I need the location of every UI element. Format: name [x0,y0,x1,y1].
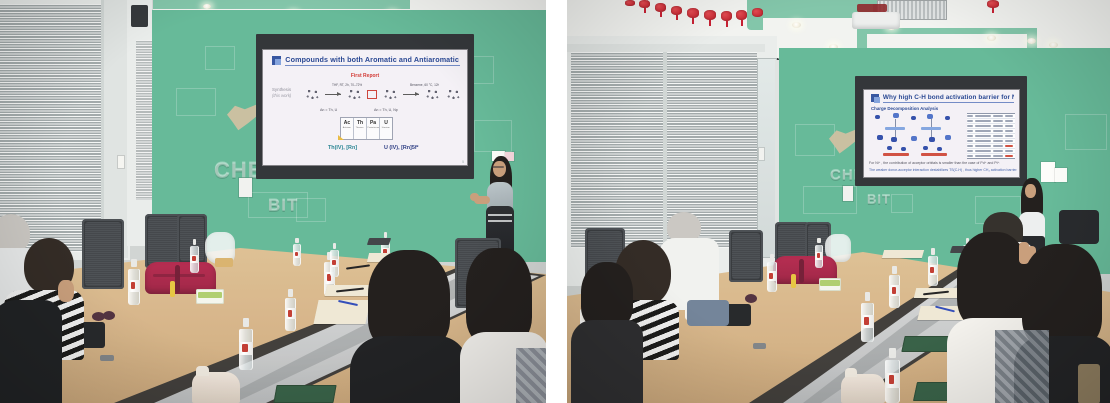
wall-control-panel[interactable] [843,186,853,201]
antiaromatic-ring-highlight [367,90,377,99]
water-bottle [885,348,900,403]
attendee-long-hair-right [350,250,468,403]
conditions-left: THF, RT, 2h, 70–72% [332,83,362,87]
lantern-icon [625,0,635,6]
element-name: Uranium [382,126,390,128]
yellow-bottle [170,281,175,297]
table-row [967,154,1015,158]
thermos-cap [845,368,857,377]
wall-letters-bit: BIT [268,196,298,216]
lantern-icon [687,8,699,18]
element-name: Protactinium [367,126,379,128]
slide-title: Why high C-H bond activation barrier for… [883,93,1014,103]
attendee-white-top-far-right [460,248,546,403]
slide-page-number: 5 [462,160,464,164]
dress-stripe [488,214,512,216]
yellow-bottle [791,274,796,288]
light-switch[interactable] [118,156,124,168]
projector-bracket [857,4,887,12]
downlight-icon [792,22,801,28]
periodic-cell: Th Thorium [354,118,367,139]
periodic-cell: U Uranium [380,118,392,139]
water-bottle [815,238,823,268]
lantern-icon [721,11,732,21]
molecule-icon [445,86,462,103]
element-name: Thorium [356,126,364,128]
slide-title-bar: Why high C-H bond activation barrier for… [871,93,1014,103]
reaction-arrow-icon [325,94,341,95]
thermos-flask [192,372,240,403]
molecule-icon [382,86,399,103]
glasses-icon [492,166,504,168]
lantern-icon [639,0,650,8]
attendee-foreground-dark [0,300,68,403]
slide-footer-left: Th(IV), [Rn] [328,145,357,151]
molecule-icon [304,86,321,103]
water-bottle [330,243,339,277]
slide-logo-icon [871,94,879,102]
chair-back-right [1059,210,1099,244]
slide-note-1: For Ni⁺ , the contribution of acceptor o… [869,161,1000,165]
lantern-icon [987,0,999,8]
water-bottle [293,238,301,266]
periodic-cell: Pa Protactinium [367,118,380,139]
attendee-plaid-skirt [995,330,1049,403]
wall-panel [1065,114,1107,150]
cda-data-table [967,113,1015,159]
lantern-icon [736,10,747,20]
periodic-cell: Ac Actinium [341,118,354,139]
conditions-right: Benzene, 60 °C, 12h [410,83,439,87]
wall-panel [205,46,235,70]
ceiling-projector [852,12,900,29]
wall-panel [795,124,835,156]
water-bottle [239,318,253,370]
slide-logo-icon [272,56,281,65]
lantern-icon [704,10,716,20]
slide-right[interactable]: Why high C-H bond activation barrier for… [863,89,1020,178]
wall-panel [176,88,216,116]
slide-side-label-1: Synthesis [272,87,291,92]
photo-pair-sheet: CHEM BIT Compounds with both Aromatic an… [0,0,1110,403]
molecule-icon [346,86,363,103]
molecule-icon [424,86,441,103]
wall-letters-box [891,194,913,213]
water-bottle [889,266,900,308]
tissue-box [819,278,841,291]
thermos-cap [196,366,209,376]
reaction-note-left: An = Th, U [320,108,337,112]
water-bottle [190,239,199,273]
water-bottle [285,289,296,331]
window-header [567,44,765,52]
chair-empty[interactable] [729,230,763,282]
slide-side-label-2: (this work) [272,93,291,98]
water-bottle [767,254,777,292]
water-bottle [861,292,874,342]
lantern-tail [726,21,728,27]
green-notebook [273,385,336,403]
tissue-box [196,289,224,304]
downlight-icon [203,4,211,9]
downlight-icon [987,35,996,41]
wall-control-panel[interactable] [239,178,252,197]
sunglasses [745,294,757,303]
downlight-icon [1027,38,1036,44]
lantern-tail [992,8,994,13]
lantern-tail [676,15,678,20]
thermos-flask [841,374,885,403]
lantern-tail [644,8,646,13]
slide-title-bar: Compounds with both Aromatic and Antiaro… [272,55,459,66]
slide-note-2: The weaker donor-acceptor interaction de… [869,168,1017,172]
slide-footer-right: U (IV), [Rn]5f² [384,145,418,151]
lantern-tail [741,20,743,26]
lantern-tail [709,20,711,26]
lunch-container [215,258,233,267]
presenter-hand [470,193,479,201]
cable-port[interactable] [100,355,114,361]
slide-subtitle: Charge Decomposition Analysis [871,106,938,111]
water-bottle [128,259,140,305]
wall-notice [1055,168,1067,182]
wall-panel [474,120,512,152]
periodic-table-excerpt: Ac Actinium Th Thorium Pa Protactinium U… [340,117,393,140]
sunglasses [103,311,115,320]
attendee-foreground-left [581,262,641,403]
lantern-icon [655,3,666,12]
cable-port[interactable] [753,343,766,349]
speaker-icon [131,5,148,27]
slide-accent-heading: First Report [262,73,468,79]
photo-left[interactable]: CHEM BIT Compounds with both Aromatic an… [0,0,546,403]
dress-stripe [488,220,512,222]
lantern-tail [692,18,694,24]
slide-title: Compounds with both Aromatic and Antiaro… [285,55,459,66]
element-name: Actinium [343,126,351,128]
reaction-arrow-icon [403,94,419,95]
laptop [367,238,391,245]
door-handle[interactable] [759,148,764,160]
water-bottle [928,248,938,286]
cda-diagram [871,113,957,157]
reaction-note-center: An = Th, U, Np [374,108,398,112]
wall-letters-box [296,198,326,222]
lantern-icon [671,6,682,15]
notepad [882,250,924,258]
lantern-icon [752,8,763,17]
slide-left[interactable]: Compounds with both Aromatic and Antiaro… [262,49,468,166]
wall-letters-bit: BIT [867,192,891,207]
photo-right[interactable]: CHEM BIT Why high C-H bond activation ba… [567,0,1110,403]
presenter-face [493,161,506,177]
lantern-tail [660,12,662,17]
